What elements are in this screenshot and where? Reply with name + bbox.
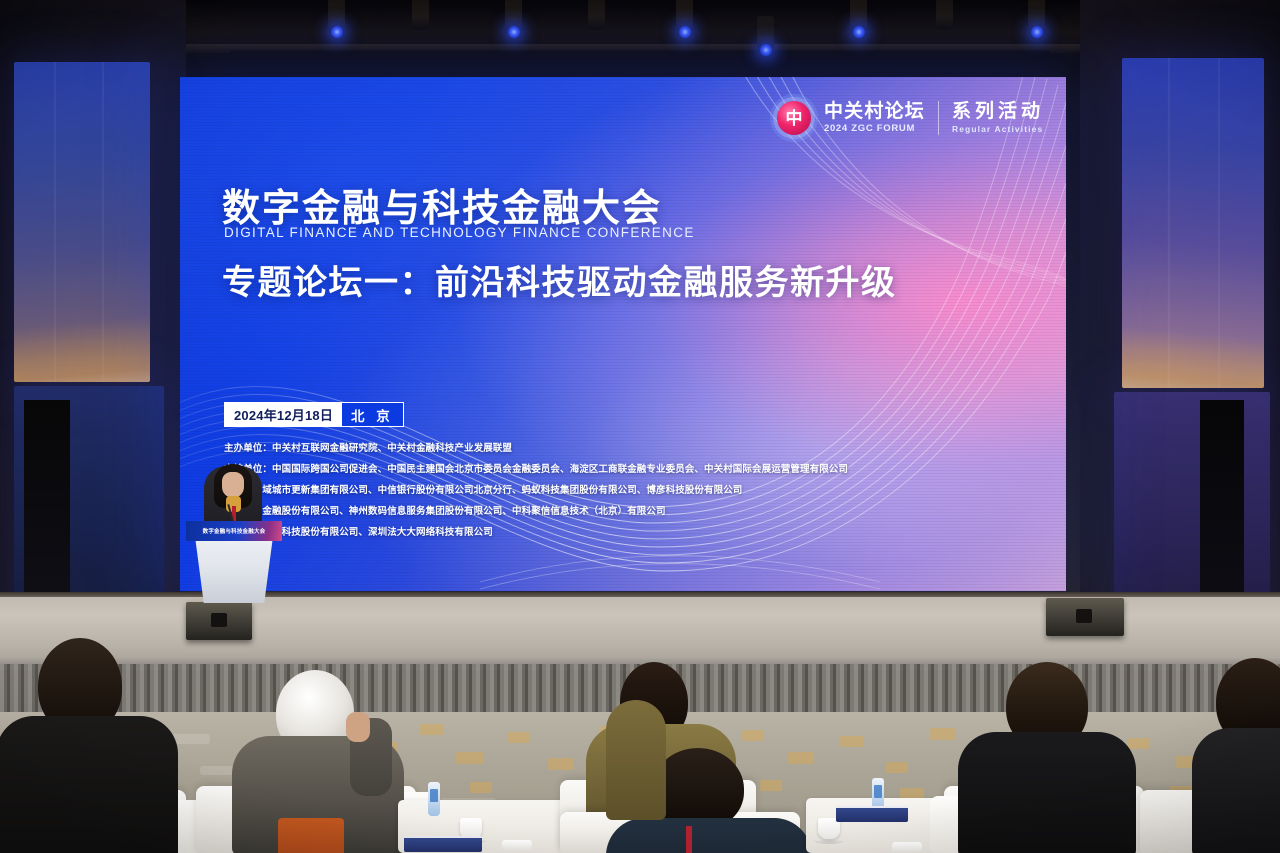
audience-member <box>1212 658 1280 853</box>
audience-member <box>606 700 666 820</box>
forum-brand: 中关村论坛 2024 ZGC FORUM <box>824 102 925 135</box>
stage-light-icon <box>676 0 693 34</box>
forum-brand-en: 2024 ZGC FORUM <box>824 123 925 134</box>
organizer-line: 北京海新域城市更新集团有限公司、中信银行股份有限公司北京分行、蚂蚁科技集团股份有… <box>224 482 848 496</box>
forum-series-cn: 系列活动 <box>952 102 1044 122</box>
stage-light-icon <box>850 0 867 34</box>
organizer-line: 支持单位：中国国际跨国公司促进会、中国民主建国会北京市委员会金融委员会、海淀区工… <box>224 461 848 475</box>
audience-member <box>8 638 168 853</box>
stage-light-icon <box>757 16 774 52</box>
stage-light-icon <box>328 0 345 34</box>
speaker-face <box>222 472 244 498</box>
stage-light-icon <box>936 0 953 30</box>
stage-monitor-speaker <box>186 602 252 640</box>
forum-series: 系列活动 Regular Activities <box>952 102 1044 135</box>
stage-light-icon <box>1028 0 1045 34</box>
event-city: 北 京 <box>342 403 403 426</box>
podium-banner: 数字金融与科技金融大会 <box>186 521 282 541</box>
audience-hand <box>346 712 370 742</box>
conference-title-cn: 数字金融与科技金融大会 <box>222 177 662 232</box>
stage-light-icon <box>588 0 605 30</box>
wall-panel-right-upper <box>1122 58 1264 388</box>
stage-light-icon <box>412 0 429 30</box>
audience-body <box>1192 728 1280 853</box>
forum-emblem-icon: 中 <box>777 101 811 135</box>
forum-logo: 中 中关村论坛 2024 ZGC FORUM 系列活动 Regular Acti… <box>777 101 1044 135</box>
event-date: 2024年12月18日 <box>225 403 342 426</box>
conference-title-en: DIGITAL FINANCE AND TECHNOLOGY FINANCE C… <box>224 225 695 240</box>
date-location-badge: 2024年12月18日 北 京 <box>224 402 404 427</box>
wall-panel-left-upper <box>14 62 150 382</box>
audience-body <box>0 716 178 853</box>
led-screen: 中 中关村论坛 2024 ZGC FORUM 系列活动 Regular Acti… <box>180 77 1066 591</box>
tissue-pack <box>892 842 922 852</box>
stage-monitor-speaker <box>1046 598 1124 636</box>
organizer-list: 主办单位：中关村互联网金融研究院、中关村金融科技产业发展联盟 支持单位：中国国际… <box>224 440 848 545</box>
podium-area: 数字金融与科技金融大会 <box>178 466 290 606</box>
organizer-line: 上海合合信息科技股份有限公司、深圳法大大网络科技有限公司 <box>224 524 848 538</box>
audience-scarf <box>278 818 344 853</box>
audience-body <box>958 732 1136 853</box>
audience-body <box>606 818 812 853</box>
audience-lanyard <box>686 826 692 853</box>
organizer-line: 马上消费金融股份有限公司、神州数码信息服务集团股份有限公司、中科聚信信息技术（北… <box>224 503 848 517</box>
conference-stage-photo: 中 中关村论坛 2024 ZGC FORUM 系列活动 Regular Acti… <box>0 0 1280 853</box>
forum-brand-cn: 中关村论坛 <box>824 102 925 122</box>
audience-member <box>232 670 412 853</box>
name-plate <box>836 806 908 822</box>
audience-body <box>606 700 666 820</box>
stage-light-icon <box>505 0 522 34</box>
tissue-pack <box>502 840 532 850</box>
forum-session-title: 专题论坛一：前沿科技驱动金融服务新升级 <box>222 255 897 304</box>
water-bottle <box>428 782 440 816</box>
logo-divider <box>938 101 939 135</box>
name-plate <box>404 836 482 852</box>
organizer-line: 主办单位：中关村互联网金融研究院、中关村金融科技产业发展联盟 <box>224 440 848 454</box>
forum-series-en: Regular Activities <box>952 124 1044 134</box>
truss-bar-secondary <box>230 50 1050 56</box>
audience-member <box>958 662 1140 853</box>
